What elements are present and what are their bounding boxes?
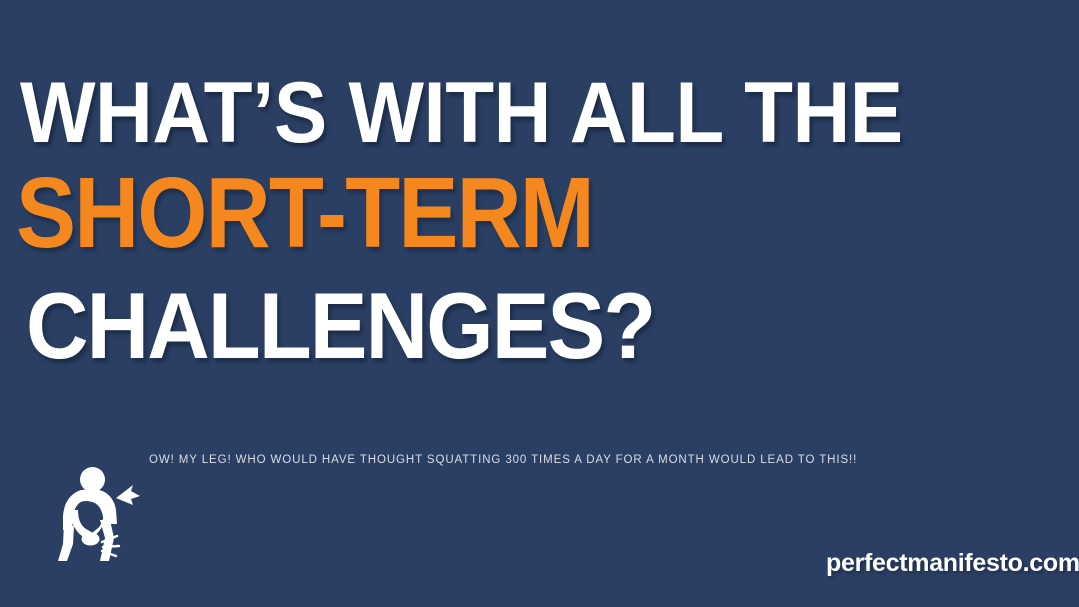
person-holding-sore-knee-icon (48, 458, 166, 564)
illustration-figure-group (48, 458, 166, 564)
pain-lines (102, 536, 119, 556)
site-url[interactable]: perfectmanifesto.com (826, 549, 1079, 578)
slide-canvas: WHAT’S WITH ALL THE SHORT-TERM CHALLENGE… (0, 0, 1079, 607)
headline-line-3: CHALLENGES? (26, 279, 654, 373)
headline-line-1: WHAT’S WITH ALL THE (20, 70, 903, 156)
speech-caption-text: OW! MY LEG! WHO WOULD HAVE THOUGHT SQUAT… (149, 454, 857, 466)
speech-bubble-tail-icon (116, 485, 140, 505)
headline-line-2-highlight: SHORT-TERM (16, 163, 593, 263)
